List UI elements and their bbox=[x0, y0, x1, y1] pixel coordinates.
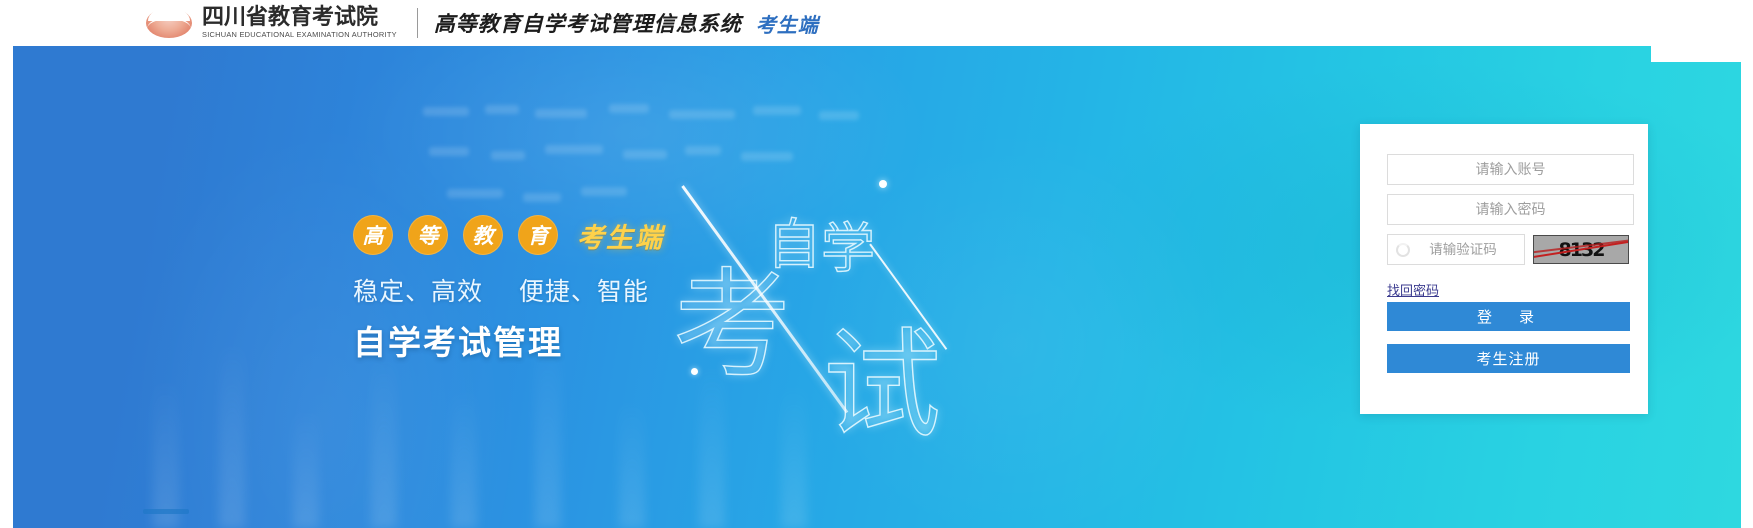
candidate-register-button[interactable]: 考生注册 bbox=[1387, 344, 1630, 373]
system-title: 高等教育自学考试管理信息系统 bbox=[434, 8, 742, 38]
captcha-image[interactable]: 8132 bbox=[1533, 235, 1629, 264]
banner-badge-1-label: 高 bbox=[363, 225, 384, 246]
header-divider bbox=[417, 8, 418, 38]
banner-main-title: 自学考试管理 bbox=[353, 316, 1053, 364]
page-header: 四川省教育考试院 SICHUAN EDUCATIONAL EXAMINATION… bbox=[0, 0, 1753, 46]
password-field[interactable] bbox=[1387, 194, 1634, 225]
banner-copy: 高 等 教 育 考生端 稳定、高效 便捷、智能 自学考试管理 bbox=[353, 211, 1053, 364]
account-input[interactable] bbox=[1388, 155, 1633, 184]
login-panel: 8132 找回密码 登 录 考生注册 bbox=[1360, 124, 1648, 414]
banner-badge-2: 等 bbox=[408, 215, 448, 255]
login-form: 8132 找回密码 登 录 考生注册 bbox=[1387, 154, 1634, 373]
login-button[interactable]: 登 录 bbox=[1387, 302, 1630, 331]
banner-role-label: 考生端 bbox=[577, 216, 664, 255]
calligraphy-dot-top bbox=[879, 180, 887, 188]
system-role-label: 考生端 bbox=[756, 9, 819, 38]
calligraphy-dot-bottom bbox=[691, 368, 698, 375]
banner-corner-notch bbox=[1651, 46, 1741, 62]
logo-text-block: 四川省教育考试院 SICHUAN EDUCATIONAL EXAMINATION… bbox=[202, 6, 399, 40]
header-brand-group: 四川省教育考试院 SICHUAN EDUCATIONAL EXAMINATION… bbox=[140, 0, 819, 46]
refresh-spinner-icon bbox=[1396, 243, 1410, 257]
banner-blurred-seats-decoration bbox=[413, 101, 973, 221]
banner-slogan-right: 便捷、智能 bbox=[519, 277, 649, 306]
banner-badge-3-label: 教 bbox=[473, 225, 494, 246]
sichuan-exam-authority-logo-icon bbox=[140, 5, 198, 41]
banner-badge-4-label: 育 bbox=[528, 225, 549, 246]
password-input[interactable] bbox=[1388, 195, 1633, 224]
logo-title-cn: 四川省教育考试院 bbox=[202, 6, 399, 30]
logo-title-en: SICHUAN EDUCATIONAL EXAMINATION AUTHORIT… bbox=[202, 30, 397, 40]
banner-bottom-accent bbox=[143, 509, 189, 514]
banner-badge-2-label: 等 bbox=[418, 225, 439, 246]
banner-badge-3: 教 bbox=[463, 215, 503, 255]
captcha-field[interactable] bbox=[1387, 234, 1525, 265]
banner-badge-1: 高 bbox=[353, 215, 393, 255]
banner-badge-row: 高 等 教 育 考生端 bbox=[353, 211, 1053, 259]
forgot-password-link[interactable]: 找回密码 bbox=[1387, 280, 1439, 299]
banner-badge-4: 育 bbox=[518, 215, 558, 255]
banner-slogan-row: 稳定、高效 便捷、智能 bbox=[353, 272, 1053, 308]
account-field[interactable] bbox=[1387, 154, 1634, 185]
banner-slogan-left: 稳定、高效 bbox=[353, 277, 483, 306]
captcha-row: 8132 bbox=[1387, 234, 1634, 265]
